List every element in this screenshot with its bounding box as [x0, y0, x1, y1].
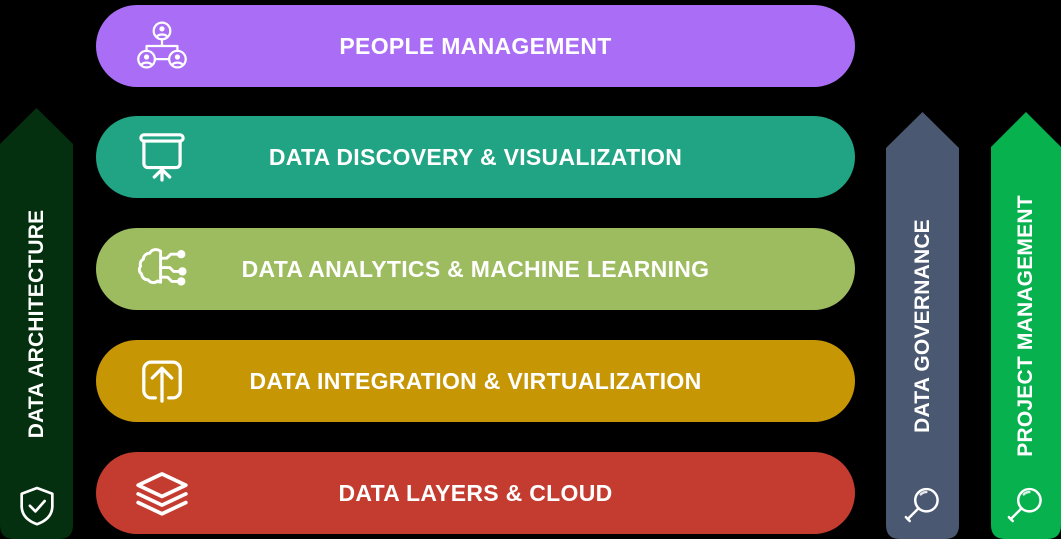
magnifier-icon	[900, 483, 946, 529]
side-arrow-label: PROJECT MANAGEMENT	[1014, 195, 1038, 456]
stack-bar-label: DATA LAYERS & CLOUD	[192, 480, 855, 507]
stack-bar-label: DATA ANALYTICS & MACHINE LEARNING	[192, 256, 855, 283]
brain-circuit-icon	[132, 240, 192, 298]
presentation-screen-icon	[132, 128, 192, 186]
upload-arrow-icon	[132, 352, 192, 410]
layers-stack-icon	[132, 464, 192, 522]
people-hierarchy-icon	[132, 17, 192, 75]
magnifier-icon	[1003, 483, 1049, 529]
side-arrow-data-architecture[interactable]: DATA ARCHITECTURE	[0, 108, 73, 539]
stack-bar-people-management[interactable]: PEOPLE MANAGEMENT	[96, 5, 855, 87]
stack-bar-label: PEOPLE MANAGEMENT	[192, 33, 855, 60]
stack-bar-data-integration-virtualization[interactable]: DATA INTEGRATION & VIRTUALIZATION	[96, 340, 855, 422]
stack-bar-label: DATA DISCOVERY & VISUALIZATION	[192, 144, 855, 171]
stack-bar-data-analytics-machine-learning[interactable]: DATA ANALYTICS & MACHINE LEARNING	[96, 228, 855, 310]
side-arrow-data-governance[interactable]: DATA GOVERNANCE	[886, 112, 959, 539]
stack-bar-data-layers-cloud[interactable]: DATA LAYERS & CLOUD	[96, 452, 855, 534]
shield-check-icon	[14, 483, 60, 529]
side-arrow-label: DATA GOVERNANCE	[911, 219, 935, 433]
stack-bar-label: DATA INTEGRATION & VIRTUALIZATION	[192, 368, 855, 395]
side-arrow-project-management[interactable]: PROJECT MANAGEMENT	[991, 112, 1061, 539]
side-arrow-label: DATA ARCHITECTURE	[25, 209, 49, 438]
stack-bar-data-discovery-visualization[interactable]: DATA DISCOVERY & VISUALIZATION	[96, 116, 855, 198]
diagram-canvas: DATA ARCHITECTURE PEO	[0, 0, 1061, 539]
